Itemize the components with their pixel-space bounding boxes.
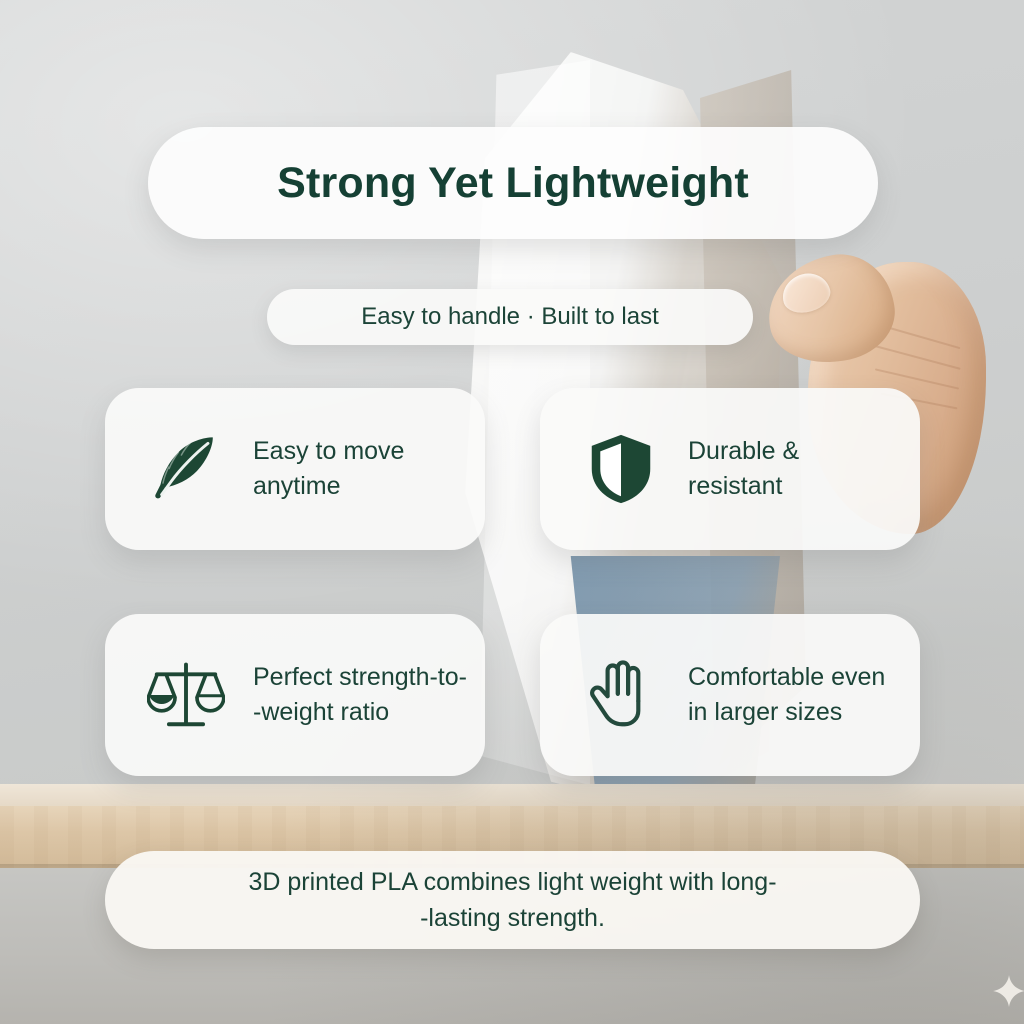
- feature-label: Perfect strength-to- -weight ratio: [253, 660, 467, 731]
- feature-label: Comfortable even in larger sizes: [688, 660, 885, 731]
- caption-text: 3D printed PLA combines light weight wit…: [248, 864, 776, 937]
- feature-card-comfortable[interactable]: Comfortable even in larger sizes: [540, 614, 920, 776]
- scales-icon: [147, 656, 225, 734]
- feather-icon: [147, 430, 225, 508]
- sparkle-icon: [992, 974, 1024, 1008]
- shield-icon: [582, 430, 660, 508]
- feature-label: Durable & resistant: [688, 434, 799, 505]
- caption-banner: 3D printed PLA combines light weight wit…: [105, 851, 920, 949]
- feature-label: Easy to move anytime: [253, 434, 404, 505]
- feature-card-durable[interactable]: Durable & resistant: [540, 388, 920, 550]
- feature-card-easy-to-move[interactable]: Easy to move anytime: [105, 388, 485, 550]
- hand-icon: [582, 656, 660, 734]
- promo-graphic-scene: Strong Yet Lightweight Easy to handle · …: [0, 0, 1024, 1024]
- feature-card-strength-ratio[interactable]: Perfect strength-to- -weight ratio: [105, 614, 485, 776]
